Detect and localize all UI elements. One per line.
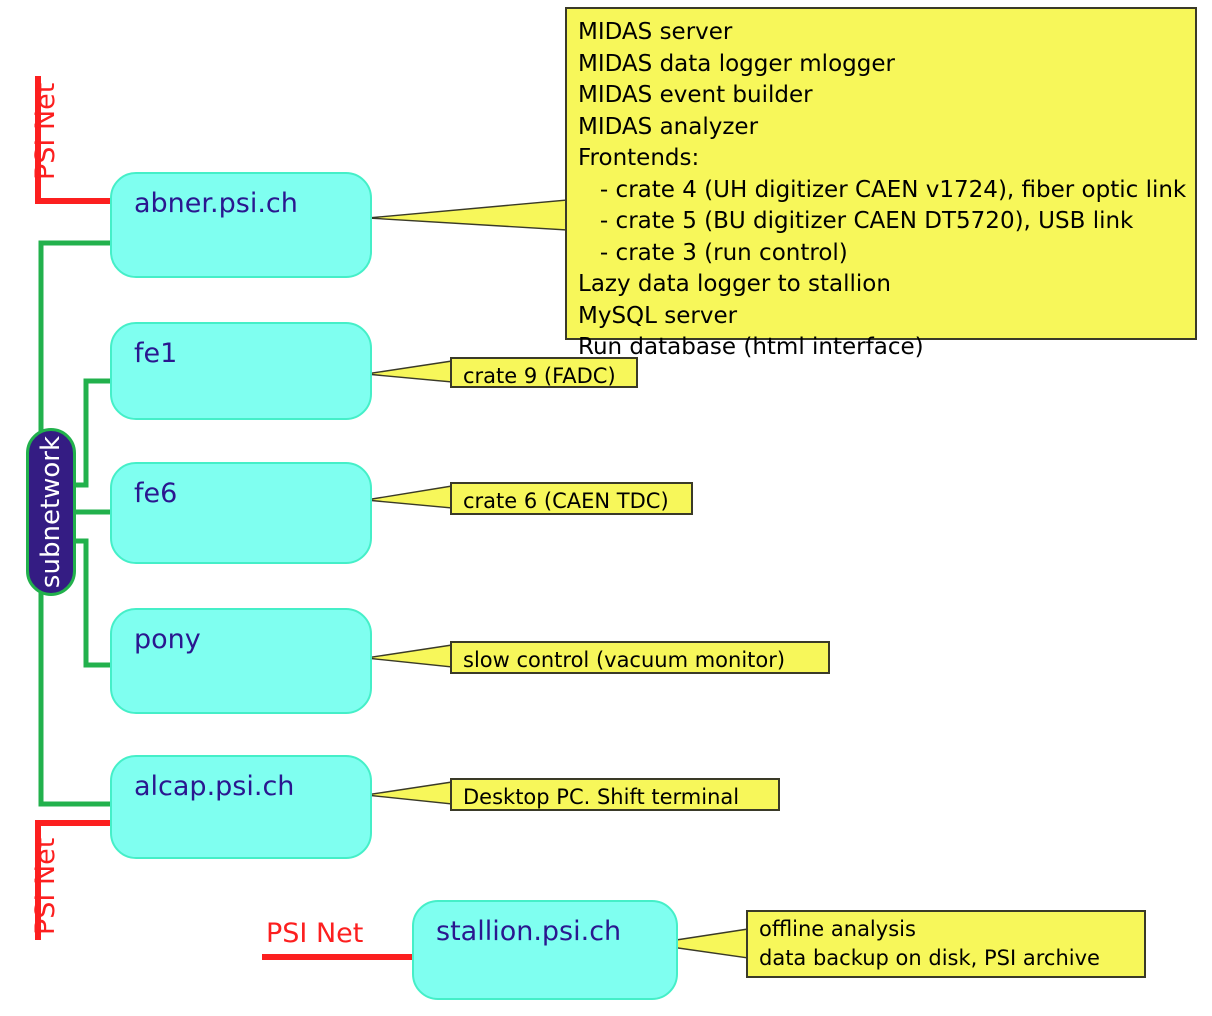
callout-abner-services: MIDAS server MIDAS data logger mlogger M… <box>565 7 1197 340</box>
psi-net-label-stallion: PSI Net <box>266 918 363 949</box>
node-fe1[interactable]: fe1 <box>110 322 372 420</box>
leader-fe1 <box>366 361 452 382</box>
leader-pony <box>366 645 452 667</box>
node-pony[interactable]: pony <box>110 608 372 714</box>
leader-alcap <box>366 782 452 804</box>
callout-alcap-note: Desktop PC. Shift terminal <box>450 778 780 811</box>
node-abner[interactable]: abner.psi.ch <box>110 172 372 278</box>
callout-fe1-note: crate 9 (FADC) <box>450 357 638 388</box>
node-stallion[interactable]: stallion.psi.ch <box>412 900 678 1000</box>
psi-net-label-top: PSI Net <box>30 83 61 180</box>
node-alcap[interactable]: alcap.psi.ch <box>110 755 372 859</box>
node-fe1-label: fe1 <box>134 338 177 369</box>
subnetwork-node[interactable]: subnetwork <box>26 428 76 596</box>
node-fe6[interactable]: fe6 <box>110 462 372 564</box>
callout-stallion-note: offline analysis data backup on disk, PS… <box>746 910 1146 978</box>
node-abner-label: abner.psi.ch <box>134 188 298 219</box>
subnetwork-label: subnetwork <box>36 436 66 588</box>
node-alcap-label: alcap.psi.ch <box>134 771 294 802</box>
leader-abner <box>368 200 567 230</box>
leader-fe6 <box>366 486 452 508</box>
node-fe6-label: fe6 <box>134 478 177 509</box>
callout-pony-note: slow control (vacuum monitor) <box>450 641 830 674</box>
callout-fe6-note: crate 6 (CAEN TDC) <box>450 482 693 515</box>
node-stallion-label: stallion.psi.ch <box>436 916 621 947</box>
node-pony-label: pony <box>134 624 201 655</box>
network-diagram-canvas: PSI Net PSI Net PSI Net subnetwork abner… <box>0 0 1212 1016</box>
psi-net-label-bottom-left: PSI Net <box>30 838 61 935</box>
